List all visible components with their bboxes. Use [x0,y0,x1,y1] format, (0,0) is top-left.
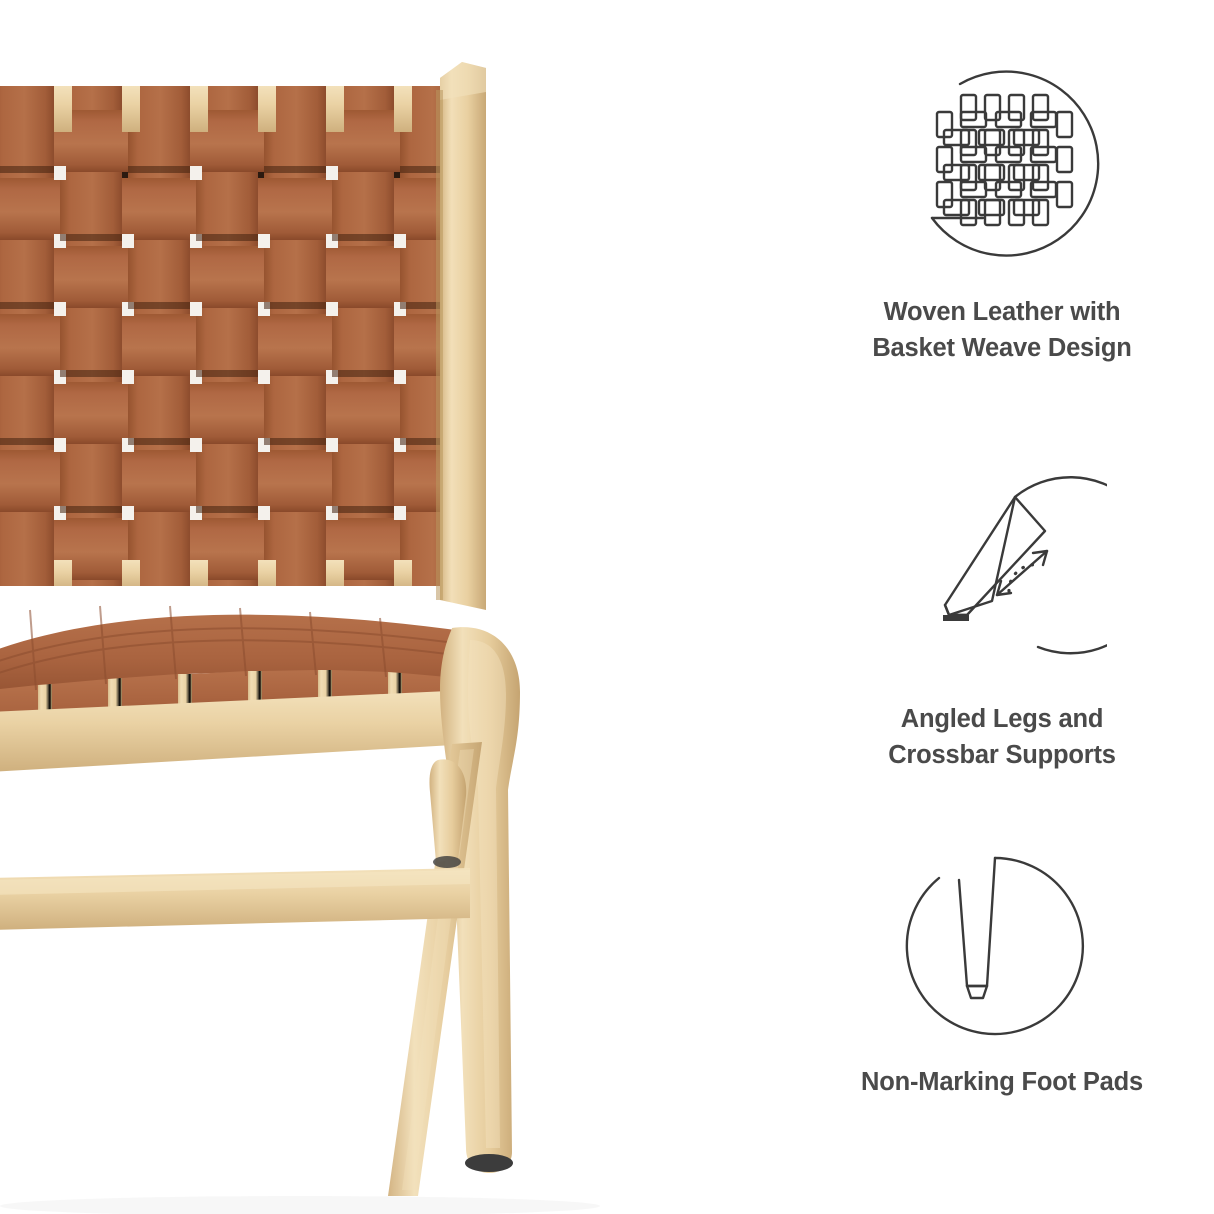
feature-caption: Non-Marking Foot Pads [861,1064,1143,1100]
backrest-right-post [436,62,486,610]
feature-item-angled-legs: Angled Legs and Crossbar Supports [790,475,1214,773]
feature-item-woven-leather: Woven Leather with Basket Weave Design [790,68,1214,366]
feature-caption: Angled Legs and Crossbar Supports [888,701,1116,773]
chair-backrest [0,86,462,590]
feature-caption: Woven Leather with Basket Weave Design [872,294,1131,366]
product-photo [0,0,620,1214]
basket-weave-icon [897,68,1107,278]
foot-pad [465,1154,513,1172]
product-feature-callout-page: Woven Leather with Basket Weave Design [0,0,1214,1214]
feature-list: Woven Leather with Basket Weave Design [790,0,1214,1214]
angled-leg-icon [897,475,1107,685]
feature-item-foot-pads: Non-Marking Foot Pads [790,838,1214,1100]
chair-illustration [0,0,620,1214]
foot-pad-icon [897,838,1107,1048]
